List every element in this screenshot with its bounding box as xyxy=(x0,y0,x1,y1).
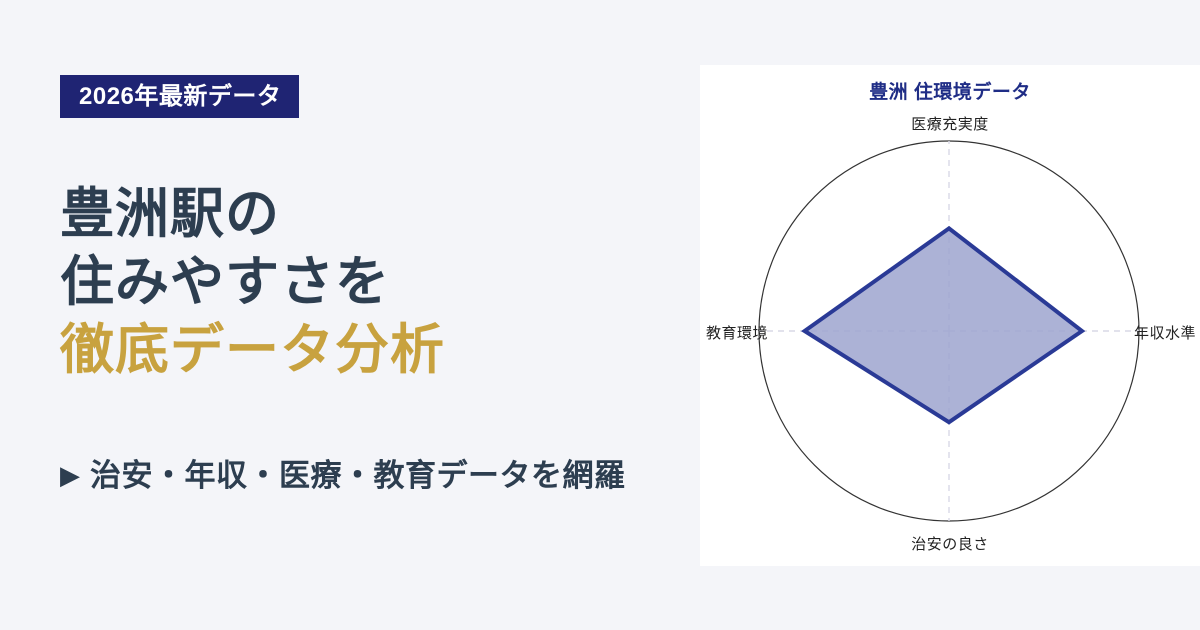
axis-label-income: 年収水準 xyxy=(1134,322,1196,343)
axis-label-medical: 医療充実度 xyxy=(911,113,989,134)
headline-line-3-accent: 徹底データ分析 xyxy=(60,316,700,384)
radar-series-group xyxy=(805,228,1082,422)
radar-chart: 医療充実度 年収水準 治安の良さ 教育環境 xyxy=(700,65,1200,566)
date-badge-label: 2026年最新データ xyxy=(79,85,281,109)
radar-chart-svg xyxy=(700,65,1200,566)
editorial-column: 2026年最新データ 豊洲駅の 住みやすさを 徹底データ分析 ▶ 治安・年収・医… xyxy=(60,60,700,560)
subtitle-label: 治安・年収・医療・教育データを網羅 xyxy=(90,460,626,491)
date-badge: 2026年最新データ xyxy=(60,75,299,118)
axis-label-safety: 治安の良さ xyxy=(911,533,989,554)
headline-line-2: 住みやすさを xyxy=(60,248,700,316)
subtitle: ▶ 治安・年収・医療・教育データを網羅 xyxy=(60,460,626,491)
axis-label-education: 教育環境 xyxy=(706,322,768,343)
page-title: 豊洲駅の 住みやすさを 徹底データ分析 xyxy=(60,180,700,384)
radar-series-polygon xyxy=(805,228,1082,422)
poster-canvas: 2026年最新データ 豊洲駅の 住みやすさを 徹底データ分析 ▶ 治安・年収・医… xyxy=(0,0,1200,630)
headline-line-1: 豊洲駅の xyxy=(60,180,700,248)
triangle-right-icon: ▶ xyxy=(60,462,80,488)
chart-panel: 豊洲 住環境データ 医療充実度 年収水準 治安の良さ 教育環境 xyxy=(700,65,1200,566)
